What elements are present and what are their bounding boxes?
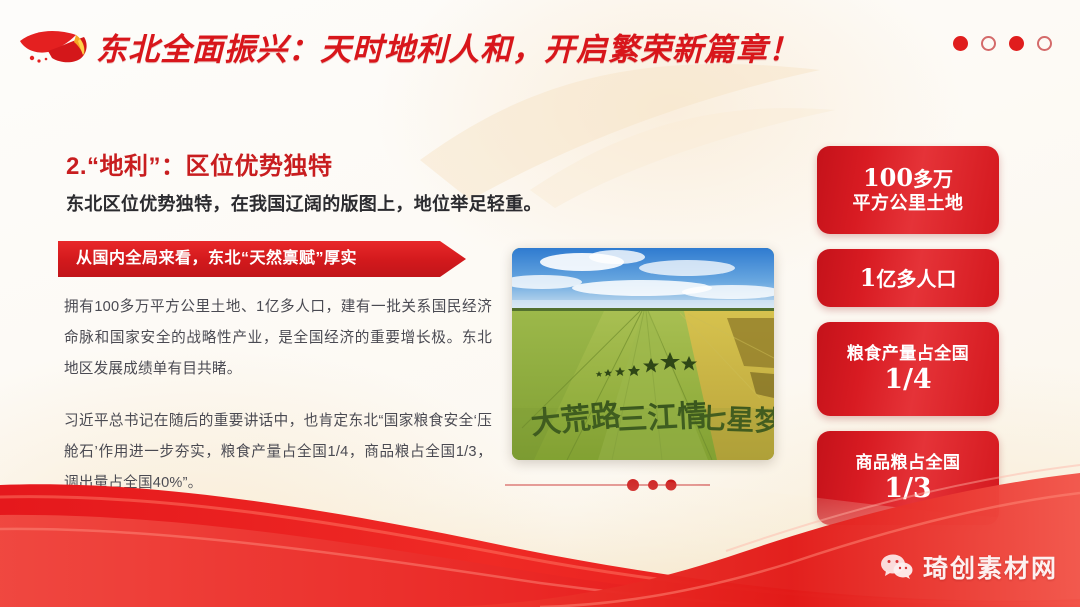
- photo-divider: [505, 478, 710, 492]
- watermark-text: 琦创素材网: [923, 549, 1058, 585]
- pager-dot-4[interactable]: [1037, 36, 1052, 51]
- pager-dots[interactable]: [953, 36, 1052, 51]
- stat-card-population[interactable]: 1亿多人口: [817, 249, 999, 307]
- stat-card-3-caption: 粮食产量占全国: [847, 344, 970, 364]
- rice-field-photo: 大荒路 三江情 七星梦: [512, 248, 774, 460]
- stat-card-grain-output-share[interactable]: 粮食产量占全国 1/4: [817, 322, 999, 416]
- stat-card-4-fraction: 1/3: [884, 475, 931, 503]
- page-title: 东北全面振兴：天时地利人和，开启繁荣新篇章！: [96, 24, 800, 69]
- red-flag-torch-logo-icon: [18, 25, 98, 73]
- stat-card-land-area[interactable]: 100多万 平方公里土地: [817, 146, 999, 234]
- stat-card-2-number: 1亿多人口: [860, 265, 957, 292]
- slide-header: 东北全面振兴：天时地利人和，开启繁荣新篇章！: [0, 0, 1080, 92]
- pager-dot-3[interactable]: [1009, 36, 1024, 51]
- stat-card-3-fraction: 1/4: [884, 366, 931, 394]
- ribbon-label: 从国内全局来看，东北“天然禀赋”厚实: [76, 241, 357, 277]
- watermark: 琦创素材网: [880, 549, 1058, 585]
- slide-root: 东北全面振兴：天时地利人和，开启繁荣新篇章！ 2.“地利”：区位优势独特 东北区…: [0, 0, 1080, 607]
- body-paragraph-1: 拥有100多万平方公里土地、1亿多人口，建有一批关系国民经济命脉和国家安全的战略…: [64, 292, 492, 385]
- body-paragraph-2: 习近平总书记在随后的重要讲话中，也肯定东北“国家粮食安全‘压舱石’作用进一步夯实…: [64, 406, 492, 499]
- stat-card-1-number: 100多万: [863, 165, 953, 192]
- stat-card-commercial-grain-share[interactable]: 商品粮占全国 1/3: [817, 431, 999, 525]
- stat-card-4-caption: 商品粮占全国: [856, 453, 961, 473]
- section-lede: 东北区位优势独特，在我国辽阔的版图上，地位举足轻重。: [66, 190, 542, 216]
- stat-card-1-caption: 平方公里土地: [853, 192, 964, 215]
- wechat-icon: [880, 553, 914, 581]
- pager-dot-1[interactable]: [953, 36, 968, 51]
- pager-dot-2[interactable]: [981, 36, 996, 51]
- stat-card-list: 100多万 平方公里土地 1亿多人口 粮食产量占全国 1/4 商品粮占全国 1/…: [817, 146, 999, 540]
- section-heading: 2.“地利”：区位优势独特: [66, 146, 333, 181]
- ribbon-banner: 从国内全局来看，东北“天然禀赋”厚实: [58, 241, 466, 277]
